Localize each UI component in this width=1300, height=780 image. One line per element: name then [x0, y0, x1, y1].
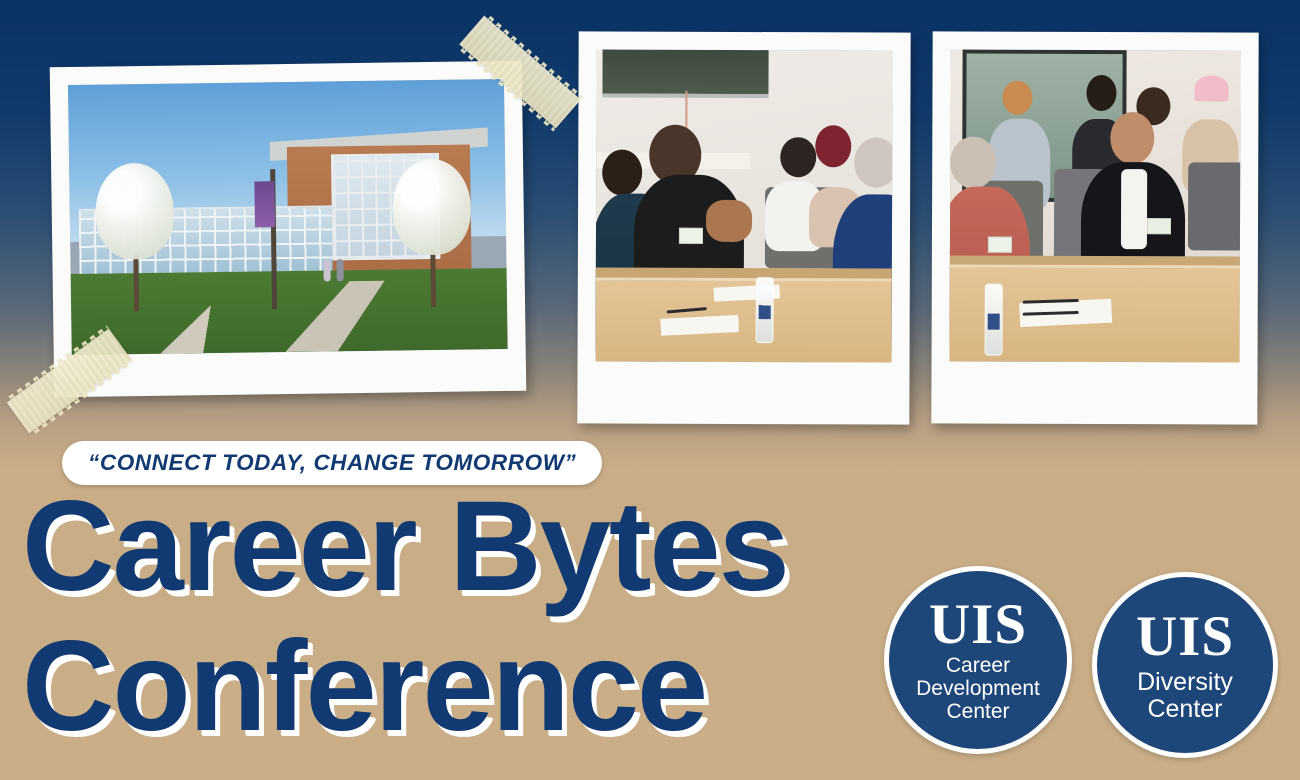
pedestrian-a	[323, 259, 330, 281]
photo-campus-building	[68, 79, 508, 355]
blossom-tree-right	[392, 158, 472, 307]
polaroid-interview-conversation	[931, 31, 1258, 424]
name-badge-student	[679, 228, 703, 244]
pedestrian-b	[336, 259, 343, 281]
white-blouse	[1121, 169, 1147, 249]
logo-subtitle-line-2: Development	[916, 678, 1040, 701]
head-woman-blazer	[1110, 112, 1154, 164]
head-background-left	[780, 137, 816, 177]
blossom-tree-left	[95, 162, 175, 311]
poster-canvas: “CONNECT TODAY, CHANGE TOMORROW” Career …	[0, 0, 1300, 780]
logo-acronym: UIS	[929, 596, 1027, 653]
logo-uis-diversity-center: UIS Diversity Center	[1092, 572, 1278, 758]
head-red-hair	[815, 125, 851, 167]
head-woman-left	[602, 149, 642, 195]
campus-scene	[68, 79, 508, 355]
name-badge-blazer	[1147, 219, 1171, 235]
gesturing-hands	[705, 200, 751, 242]
logo-subtitle-line-2: Center	[1137, 696, 1233, 723]
interview-scene	[950, 49, 1241, 362]
logo-subtitle-line-1: Diversity	[1137, 669, 1233, 696]
polaroid-students-networking	[577, 31, 910, 424]
photo-interview-conversation	[950, 49, 1241, 362]
photo-students-networking	[596, 49, 893, 362]
page-title: Career Bytes Conference	[22, 486, 788, 747]
headline-line-2: Conference	[22, 626, 788, 748]
chair-back-right	[1188, 163, 1241, 251]
logo-subtitle: Career Development Center	[916, 655, 1040, 723]
water-bottle	[984, 283, 1002, 355]
logo-acronym: UIS	[1136, 608, 1234, 665]
logo-uis-career-development-center: UIS Career Development Center	[884, 566, 1072, 754]
networking-scene	[596, 49, 893, 362]
water-bottle	[755, 277, 773, 343]
logo-subtitle-line-1: Career	[916, 655, 1040, 678]
name-badge-coral	[988, 237, 1012, 253]
headline-line-1: Career Bytes	[22, 486, 788, 608]
pink-beanie	[1194, 75, 1228, 101]
logo-subtitle-line-3: Center	[916, 701, 1040, 724]
logo-subtitle: Diversity Center	[1137, 669, 1233, 723]
tagline-text: “CONNECT TODAY, CHANGE TOMORROW”	[88, 450, 576, 476]
